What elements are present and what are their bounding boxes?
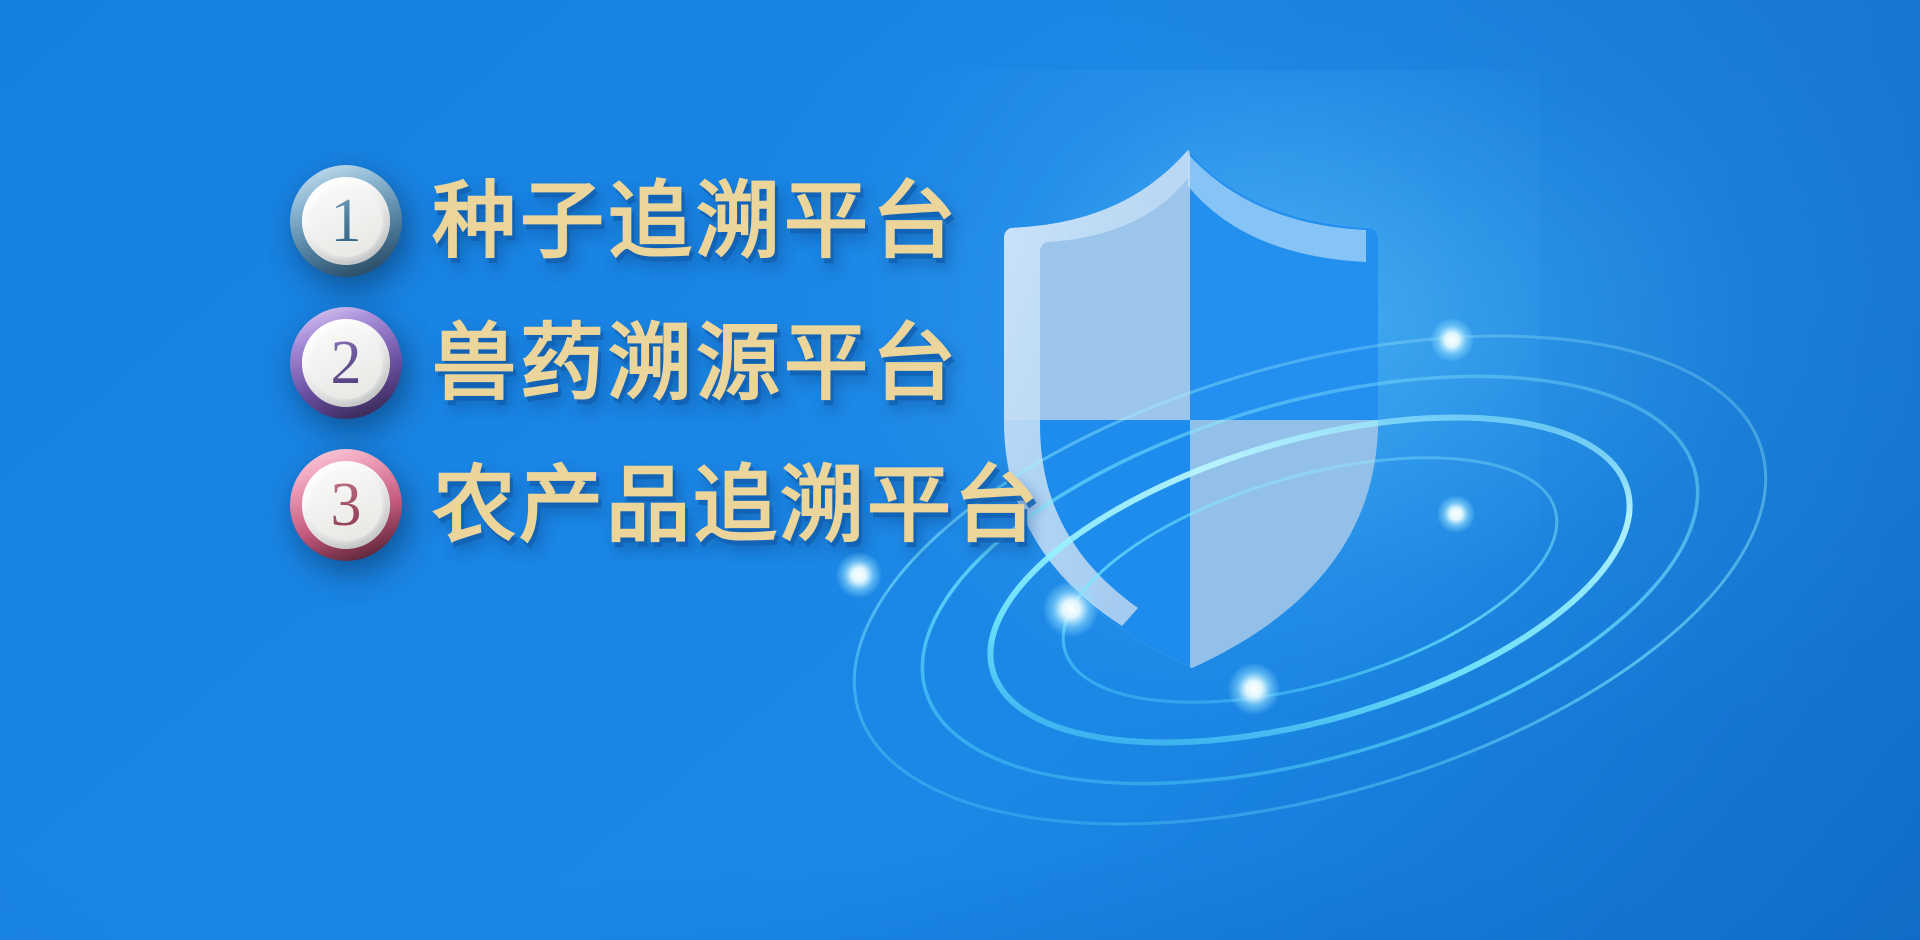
platform-list: 1 种子追溯平台 2 兽药溯源平台 3 农产品追 <box>290 150 1050 576</box>
list-item[interactable]: 2 兽药溯源平台 <box>290 292 1050 434</box>
badge-one[interactable]: 1 <box>290 165 402 277</box>
badge-number: 3 <box>331 474 362 536</box>
list-item[interactable]: 1 种子追溯平台 <box>290 150 1050 292</box>
badge-face: 2 <box>310 327 382 399</box>
badge-face: 1 <box>310 185 382 257</box>
platform-label: 兽药溯源平台 <box>432 321 960 405</box>
badge-three[interactable]: 3 <box>290 449 402 561</box>
badge-number: 2 <box>331 332 362 394</box>
platform-label: 种子追溯平台 <box>432 179 960 263</box>
badge-number: 1 <box>331 190 362 252</box>
badge-two[interactable]: 2 <box>290 307 402 419</box>
platform-label: 农产品追溯平台 <box>432 463 1041 547</box>
badge-face: 3 <box>310 469 382 541</box>
promo-banner: 1 种子追溯平台 2 兽药溯源平台 3 农产品追 <box>0 0 1920 940</box>
list-item[interactable]: 3 农产品追溯平台 <box>290 434 1050 576</box>
